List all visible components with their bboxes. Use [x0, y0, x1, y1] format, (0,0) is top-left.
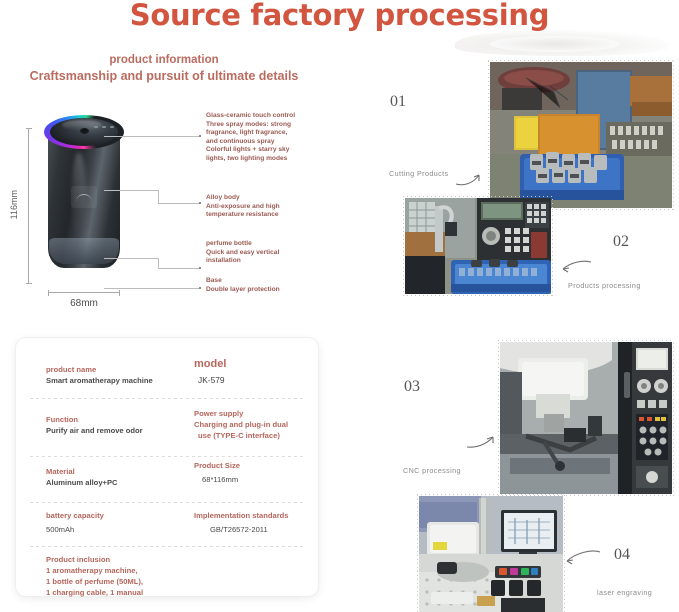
spec-divider	[30, 546, 304, 547]
spec-divider	[30, 502, 304, 503]
spec-row-product-name: product name Smart aromatherapy machine	[46, 364, 153, 386]
photo-cnc-processing	[500, 342, 672, 494]
step-number-03-text: 03	[404, 378, 420, 395]
step-number-01-text: 01	[390, 93, 406, 110]
callout-line: fragrance, light fragrance,	[206, 129, 295, 138]
product-illustration: 116mm 68mm	[20, 112, 200, 312]
callout-line: Three spray modes: strong	[206, 121, 295, 130]
page-title: Source factory processing	[0, 0, 679, 32]
spec-row-battery: battery capacity 500mAh	[46, 510, 104, 535]
spec-row-function: Function Purify air and remove odor	[46, 414, 143, 436]
step-number-02-text: 02	[613, 233, 629, 250]
subheading-group: product information Craftsmanship and pu…	[14, 53, 314, 85]
background-wash-secondary	[490, 36, 620, 52]
photo-cutting-products-art	[490, 62, 672, 208]
leader-dot-2	[199, 202, 201, 204]
callout-base: Base Double layer protection	[206, 277, 280, 294]
step-number-03: 03	[404, 378, 420, 396]
spec-row-product-size: Product Size 68*116mm	[194, 460, 240, 485]
spec-value: use (TYPE-C interface)	[194, 430, 288, 441]
callout-line: perfume bottle	[206, 240, 279, 249]
callout-line: temperature resistance	[206, 211, 280, 220]
leader-line-2c	[158, 190, 159, 204]
infographic-page: Source factory processing product inform…	[0, 0, 679, 612]
photo-cutting-products	[490, 62, 672, 208]
callout-line: Base	[206, 277, 280, 286]
leader-line-2a	[104, 190, 159, 191]
specification-card: product name Smart aromatherapy machine …	[16, 338, 318, 596]
spec-label: product name	[46, 364, 153, 375]
width-dimension-line	[48, 292, 120, 293]
spec-value: GB/T26572-2011	[194, 524, 289, 535]
device-indicator-2	[102, 126, 106, 128]
photo-caption-03: CNC processing	[403, 466, 461, 475]
subheading-line-1: product information	[14, 53, 314, 68]
leader-line-3a	[104, 258, 159, 259]
width-dimension-label: 68mm	[70, 298, 98, 309]
spec-label: Function	[46, 414, 143, 425]
arrow-to-photo-04	[562, 548, 602, 568]
spec-label: Implementation standards	[194, 510, 289, 521]
height-dimension-label: 116mm	[9, 190, 19, 219]
spec-value: Purify air and remove odor	[46, 425, 143, 436]
spec-value: 1 aromatherapy machine,	[46, 565, 143, 576]
device-indicator-3	[110, 126, 114, 128]
device-indicator-1	[94, 126, 98, 128]
leader-line-3c	[158, 258, 159, 269]
step-number-04: 04	[614, 546, 630, 564]
callout-perfume-bottle: perfume bottle Quick and easy vertical i…	[206, 240, 279, 266]
leader-line-2b	[158, 203, 200, 204]
callout-line: lights, two lighting modes	[206, 155, 295, 164]
spec-value: Smart aromatherapy machine	[46, 375, 153, 386]
step-number-01: 01	[390, 93, 406, 111]
spec-divider	[30, 456, 304, 457]
arrow-to-photo-01	[455, 170, 489, 188]
callout-line: Quick and easy vertical	[206, 249, 279, 258]
photo-laser-engraving-art	[419, 496, 563, 612]
callout-line: Glass-ceramic touch control	[206, 112, 295, 121]
device-logo	[71, 186, 97, 208]
spec-label: Material	[46, 466, 118, 477]
photo-caption-01: Cutting Products	[389, 169, 449, 178]
callout-line: installation	[206, 257, 279, 266]
spec-row-inclusion: Product inclusion 1 aromatherapy machine…	[46, 554, 143, 598]
spec-label: Power supply	[194, 408, 288, 419]
spec-divider	[30, 398, 304, 399]
arrow-to-photo-03	[466, 432, 502, 450]
subheading-line-2: Craftsmanship and pursuit of ultimate de…	[14, 68, 314, 85]
spec-value: 68*116mm	[194, 474, 240, 485]
spec-value: 1 charging cable, 1 manual	[46, 587, 143, 598]
spec-row-power-supply: Power supply Charging and plug-in dual u…	[194, 408, 288, 441]
photo-cnc-processing-art	[500, 342, 672, 494]
spec-row-model: model JK-579	[194, 358, 226, 385]
spec-value: 500mAh	[46, 524, 104, 535]
spec-value: JK-579	[198, 375, 226, 385]
callout-line: and continuous spray	[206, 138, 295, 147]
leader-dot-4	[199, 287, 201, 289]
leader-line-4	[104, 288, 199, 289]
photo-laser-engraving	[419, 496, 563, 612]
spec-label: Product inclusion	[46, 554, 143, 565]
spec-row-standards: Implementation standards GB/T26572-2011	[194, 510, 289, 535]
callout-touch-control: Glass-ceramic touch control Three spray …	[206, 112, 295, 164]
spec-value: Aluminum alloy+PC	[46, 477, 118, 488]
callout-line: Anti-exposure and high	[206, 203, 280, 212]
photo-caption-04: laser engraving	[597, 588, 652, 597]
height-dimension-line	[28, 128, 29, 284]
spec-label: model	[194, 358, 226, 370]
leader-line-1	[104, 136, 199, 137]
spec-row-material: Material Aluminum alloy+PC	[46, 466, 118, 488]
photo-caption-02: Products processing	[568, 281, 641, 290]
spec-value: 1 bottle of perfume (50ML),	[46, 576, 143, 587]
step-number-04-text: 04	[614, 546, 630, 563]
photo-products-processing	[405, 198, 551, 294]
photo-products-processing-art	[405, 198, 551, 294]
device-base	[49, 238, 119, 264]
arrow-to-photo-02	[557, 258, 593, 274]
spec-value: Charging and plug-in dual	[194, 419, 288, 430]
callout-line: Alloy body	[206, 194, 280, 203]
spec-label: Product Size	[194, 460, 240, 471]
step-number-02: 02	[613, 233, 629, 251]
leader-dot-3	[199, 267, 201, 269]
callout-line: Colorful lights + starry sky	[206, 146, 295, 155]
callout-line: Double layer protection	[206, 286, 280, 295]
device-nozzle	[80, 128, 89, 134]
leader-line-3b	[158, 268, 200, 269]
callout-alloy-body: Alloy body Anti-exposure and high temper…	[206, 194, 280, 220]
spec-label: battery capacity	[46, 510, 104, 521]
leader-dot-1	[199, 135, 201, 137]
